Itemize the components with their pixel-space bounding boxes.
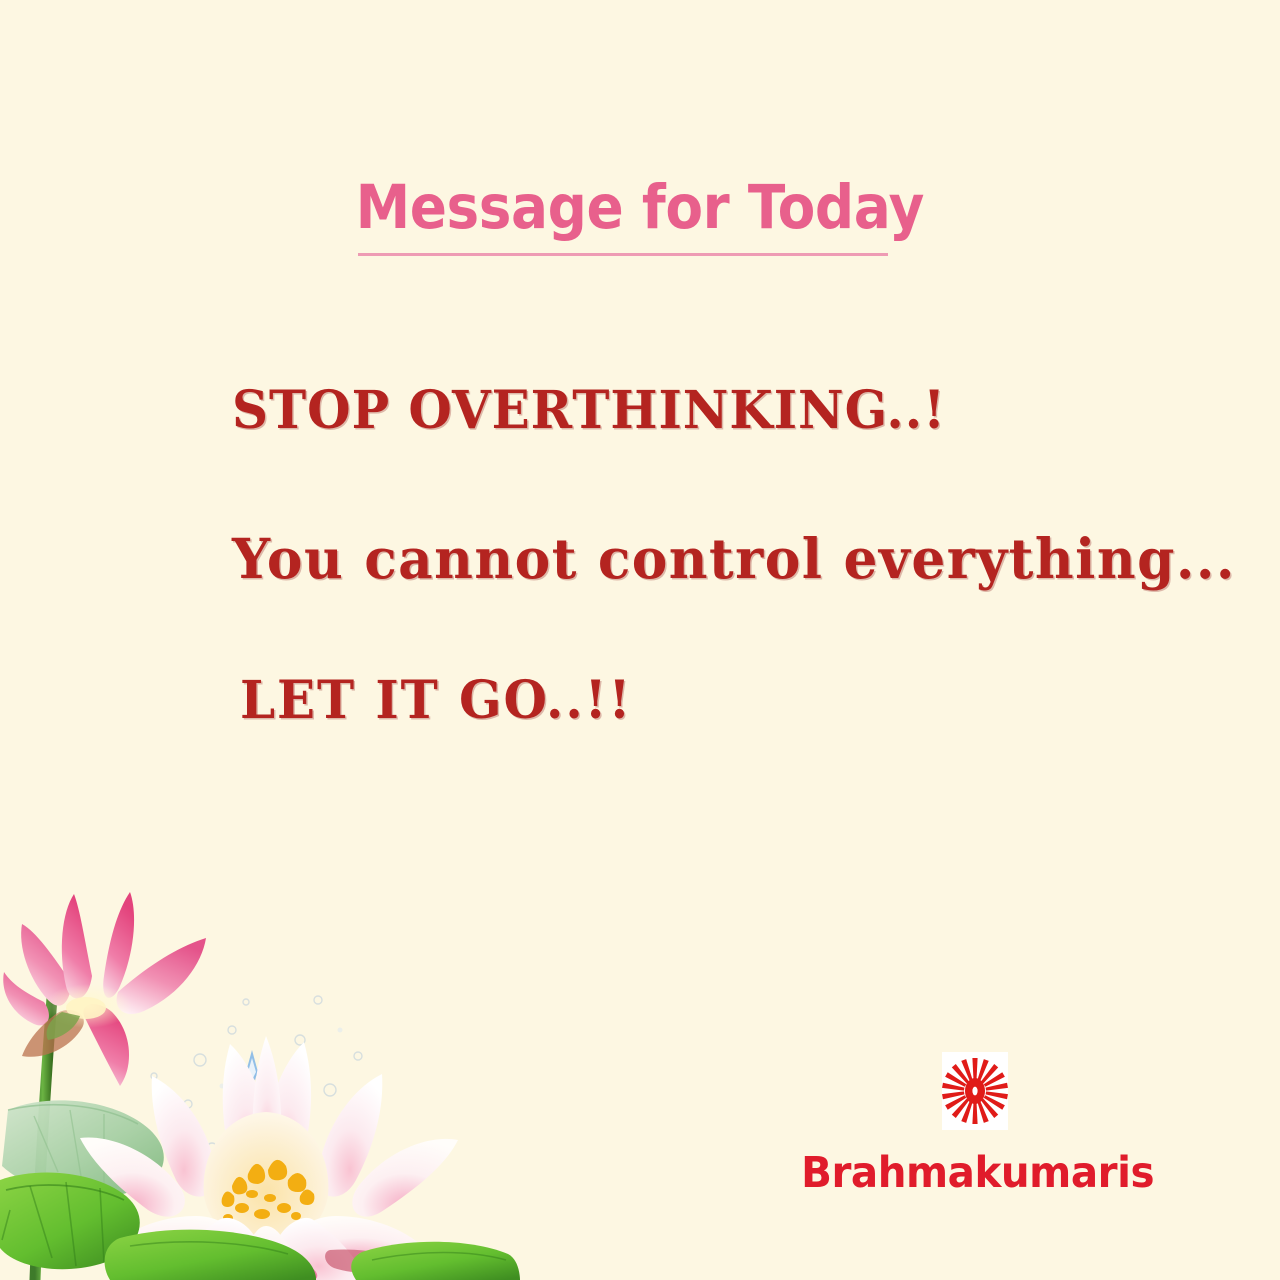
lotus-leaf-icon <box>0 1173 520 1280</box>
lotus-flowers-illustration <box>0 880 520 1280</box>
message-line-3: LET IT GO..!! <box>240 670 632 731</box>
pink-lotus-icon <box>3 892 206 1280</box>
white-lotus-icon <box>80 1036 458 1280</box>
sunburst-rays-icon <box>942 1052 1008 1130</box>
title-underline-divider <box>358 253 888 256</box>
poster-canvas: Message for Today STOP OVERTHINKING..! Y… <box>0 0 1280 1280</box>
brand-block: Brahmakumaris <box>790 1052 1160 1198</box>
bokeh-sparkle-icon <box>151 996 362 1153</box>
page-title: Message for Today <box>0 176 1280 240</box>
bokeh-sparkle-icon <box>174 1028 343 1135</box>
brand-name-label: Brahmakumaris <box>801 1148 1149 1198</box>
lotus-leaf-icon <box>2 1100 164 1197</box>
lotus-stamen-icon <box>222 1160 315 1222</box>
bokeh-sparkle-icon <box>246 1050 258 1086</box>
page-title-text: Message for Today <box>356 176 924 240</box>
message-line-1: STOP OVERTHINKING..! <box>232 380 946 441</box>
message-line-2: You cannot control everything... <box>232 526 1236 591</box>
